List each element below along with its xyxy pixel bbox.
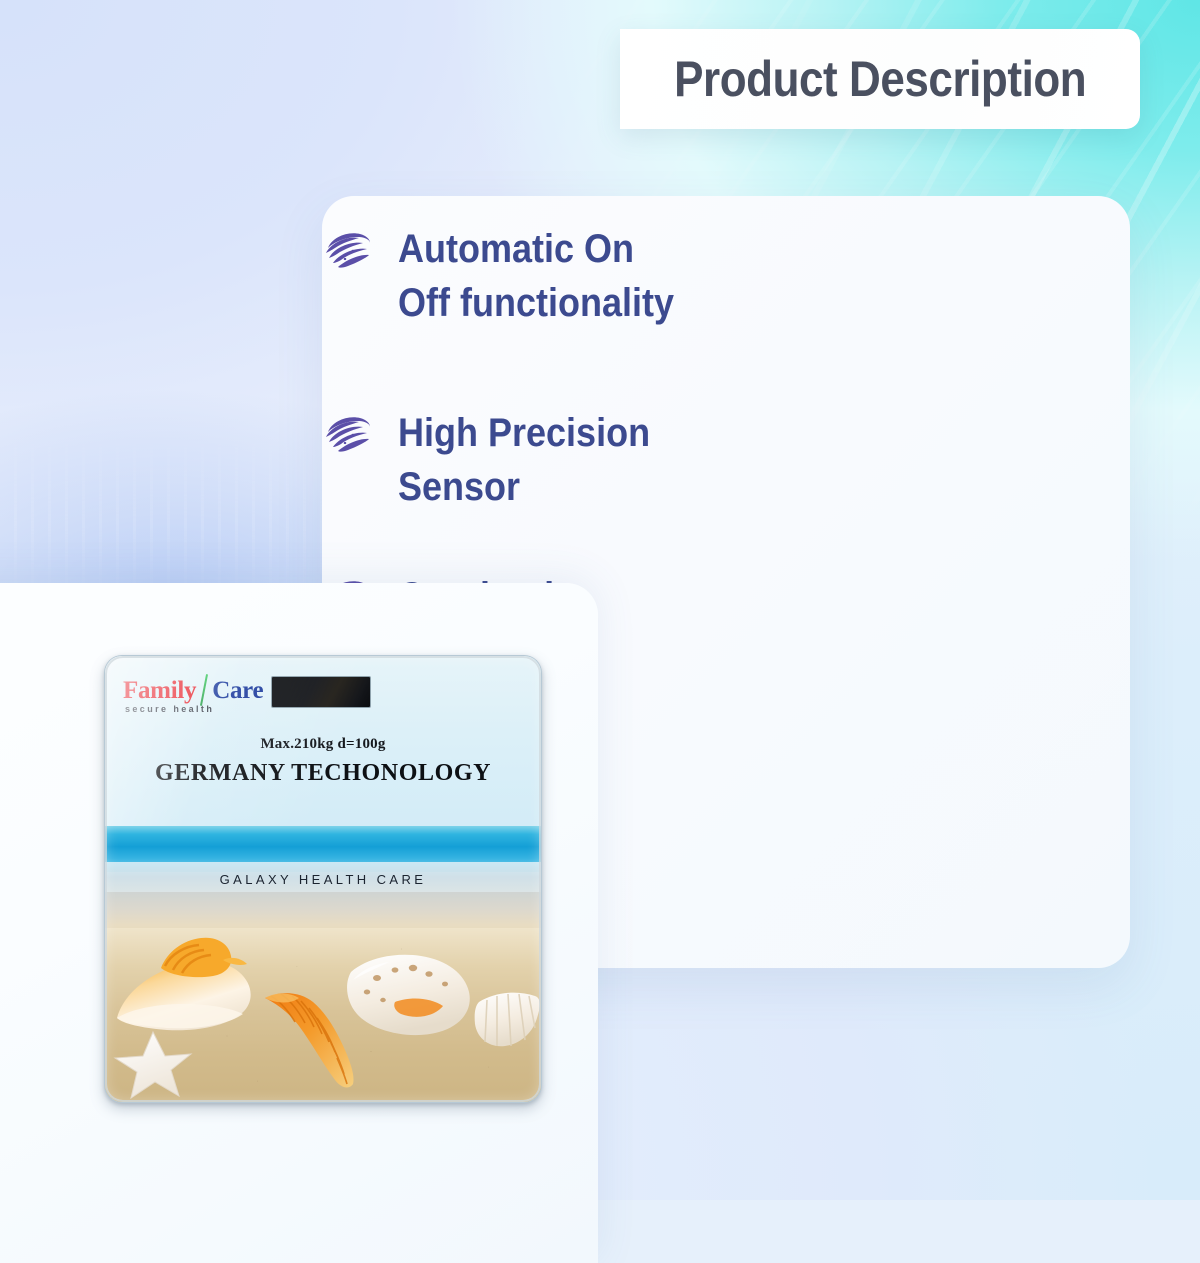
list-item: High Precision Sensor — [322, 406, 822, 514]
product-image-card: Family Care secure health Max.210kg d=10… — [0, 583, 598, 1263]
feature-label: High Precision Sensor — [398, 406, 695, 514]
header-card: Product Description — [620, 29, 1140, 129]
feature-label: Automatic On Off functionality — [398, 222, 695, 330]
product-photo-weighing-scale: Family Care secure health Max.210kg d=10… — [104, 655, 542, 1103]
swirl-galaxy-icon — [322, 412, 374, 456]
swirl-galaxy-icon — [322, 228, 374, 272]
list-item: Automatic On Off functionality — [322, 222, 822, 330]
house-brand-text: GALAXY HEALTH CARE — [105, 872, 541, 887]
page-title: Product Description — [674, 50, 1086, 108]
glass-glare — [105, 656, 541, 826]
seashell-illustration — [105, 906, 541, 1102]
